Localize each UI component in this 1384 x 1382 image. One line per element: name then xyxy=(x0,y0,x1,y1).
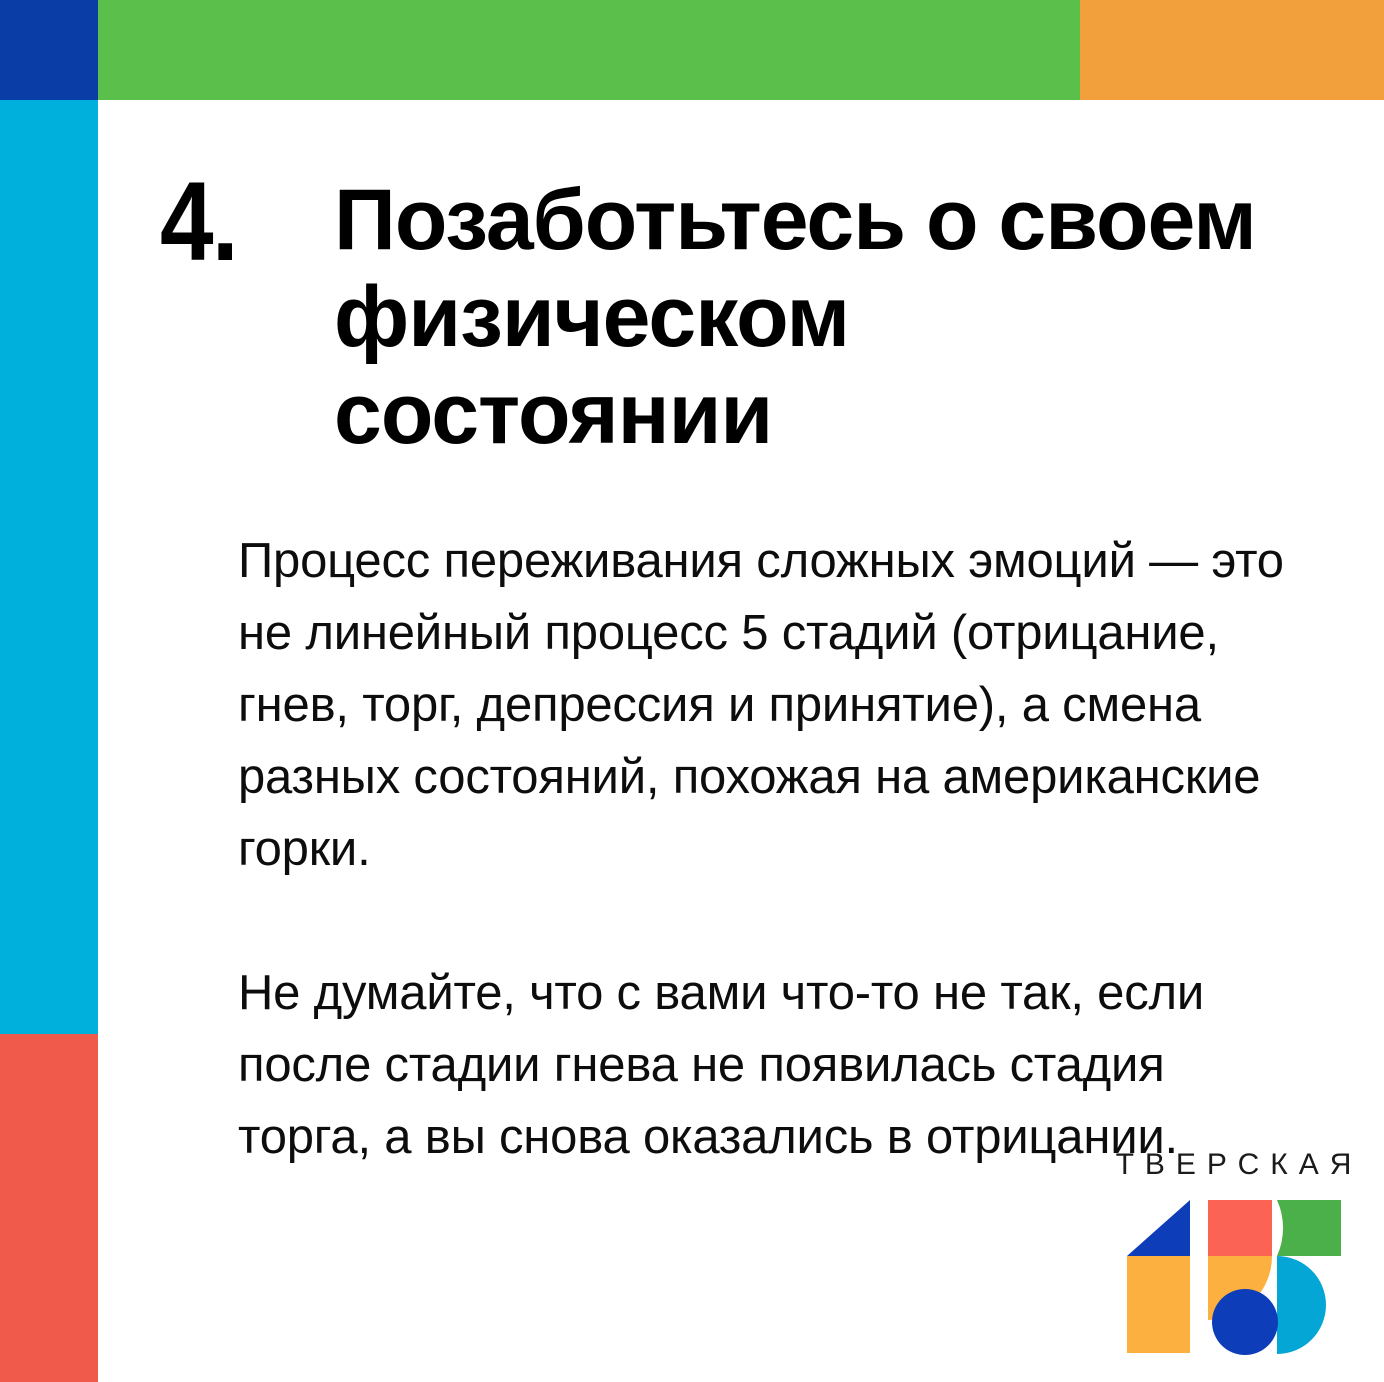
band-top-green xyxy=(98,0,1080,100)
body-paragraph-2: Не думайте, что с вами что-то не так, ес… xyxy=(238,957,1298,1173)
band-left-red xyxy=(0,1034,98,1382)
heading-title-text: Позаботьтесь о своем физическом состояни… xyxy=(334,172,1264,463)
heading-number: 4. xyxy=(160,172,315,272)
band-top-orange xyxy=(1080,0,1384,100)
logo-wordmark: ТВЕРСКАЯ xyxy=(1105,1148,1363,1182)
body-paragraph-1: Процесс переживания сложных эмоций — это… xyxy=(238,525,1298,885)
logo-15-mark xyxy=(1105,1196,1363,1356)
logo-amber-stem xyxy=(1127,1256,1190,1353)
band-left-cyan xyxy=(0,100,98,1034)
logo-sky-halfdisc xyxy=(1277,1256,1326,1354)
logo-coral-square xyxy=(1208,1200,1272,1256)
logo-navy-triangle xyxy=(1127,1200,1190,1256)
logo-navy-circle xyxy=(1212,1289,1278,1355)
page-title: 4. Позаботьтесь о своем физическом состо… xyxy=(160,172,1280,463)
logo-green-quarter xyxy=(1277,1200,1341,1256)
body-copy: Процесс переживания сложных эмоций — это… xyxy=(238,525,1298,1173)
brand-logo: ТВЕРСКАЯ xyxy=(1105,1148,1363,1358)
band-top-left-blue xyxy=(0,0,98,100)
slide-canvas: 4. Позаботьтесь о своем физическом состо… xyxy=(0,0,1384,1382)
